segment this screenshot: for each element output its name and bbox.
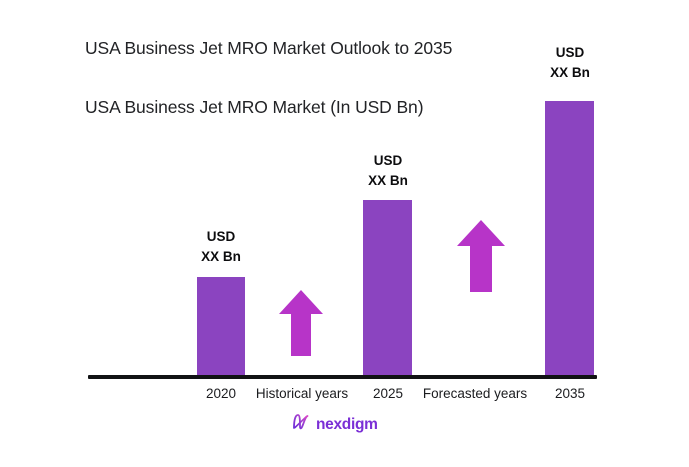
bar-label-2025-line1: USD <box>348 151 428 171</box>
brand-logo[interactable]: nexdigm <box>291 412 378 437</box>
bar-label-2020-line1: USD <box>181 227 261 247</box>
axis-tick-2020: 2020 <box>181 386 261 401</box>
brand-wordmark: nexdigm <box>316 416 378 434</box>
axis-period-historical: Historical years <box>250 386 354 401</box>
growth-arrow-forecasted <box>457 220 505 292</box>
bar-label-2025-line2: XX Bn <box>348 171 428 191</box>
bar-label-2035-line2: XX Bn <box>530 63 610 83</box>
bar-label-2035: USD XX Bn <box>530 43 610 83</box>
bar-2020[interactable] <box>197 277 245 377</box>
plot-area: USD XX Bn USD XX Bn USD XX Bn <box>0 0 689 467</box>
bar-label-2020-line2: XX Bn <box>181 247 261 267</box>
growth-arrow-historical <box>279 290 323 356</box>
bar-2035[interactable] <box>545 101 594 377</box>
x-axis-line <box>88 375 597 379</box>
axis-period-forecasted: Forecasted years <box>419 386 531 401</box>
axis-tick-2025: 2025 <box>348 386 428 401</box>
bar-label-2025: USD XX Bn <box>348 151 428 191</box>
wave-n-icon <box>291 412 311 437</box>
bar-2025[interactable] <box>363 200 412 377</box>
chart-canvas: USA Business Jet MRO Market Outlook to 2… <box>0 0 689 467</box>
axis-tick-2035: 2035 <box>530 386 610 401</box>
bar-label-2020: USD XX Bn <box>181 227 261 267</box>
bar-label-2035-line1: USD <box>530 43 610 63</box>
